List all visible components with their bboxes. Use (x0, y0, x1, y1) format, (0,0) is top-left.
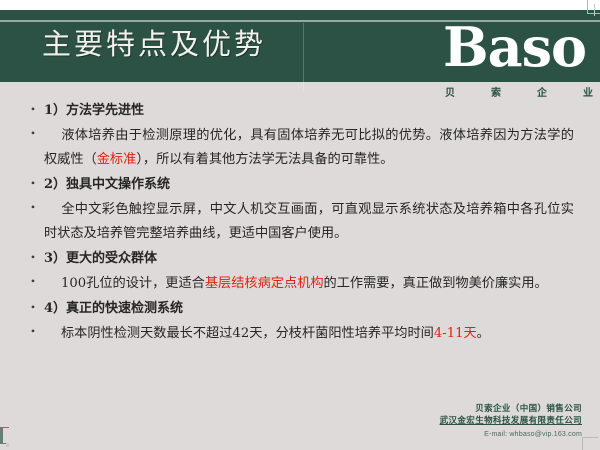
bullet-row: •3）更大的受众群体 (0, 248, 600, 270)
bullet-text: 1）方法学先进性 (44, 100, 584, 122)
bullet-text: 全中文彩色触控显示屏，中文人机交互画面，可直观显示系统状态及培养箱中各孔位实时状… (44, 198, 584, 246)
bullet-row: •100孔位的设计，更适合基层结核病定点机构的工作需要，真正做到物美价廉实用。 (0, 272, 600, 296)
logo-sub-char-0: 贝 (445, 84, 455, 99)
text-segment: ），所以有着其他方法学无法具备的可靠性。 (136, 152, 393, 167)
bullet-row: •2）独具中文操作系统 (0, 174, 600, 196)
logo-subtitle: 贝 索 企 业 (445, 84, 593, 99)
bullet-marker-icon: • (0, 298, 44, 317)
left-corner-mark (0, 427, 9, 444)
top-right-mark-vertical (587, 0, 588, 14)
bullet-text: 液体培养由于检测原理的优化，具有固体培养无可比拟的优势。液体培养因为方法学的权威… (44, 124, 584, 172)
highlighted-phrase: 金标准 (97, 152, 137, 167)
title-divider-rule (303, 23, 304, 91)
bullet-row: •全中文彩色触控显示屏，中文人机交互画面，可直观显示系统状态及培养箱中各孔位实时… (0, 198, 600, 246)
bullet-text: 100孔位的设计，更适合基层结核病定点机构的工作需要，真正做到物美价廉实用。 (44, 272, 584, 296)
bullet-row: •液体培养由于检测原理的优化，具有固体培养无可比拟的优势。液体培养因为方法学的权… (0, 124, 600, 172)
bullet-text: 3）更大的受众群体 (44, 248, 584, 270)
bottom-right-mark-vertical (582, 437, 583, 450)
highlighted-phrase: 4-11天 (434, 326, 477, 341)
company-logo: Baso 贝 索 企 业 (443, 14, 593, 100)
footer-company-sales: 贝索企业（中国）销售公司 (282, 402, 582, 414)
bullet-marker-icon: • (0, 248, 44, 267)
bullet-marker-icon: • (0, 124, 44, 143)
slide-footer: 贝索企业（中国）销售公司 武汉金宏生物科技发展有限责任公司 E-mail: wh… (282, 402, 582, 441)
slide-canvas: 主要特点及优势 Baso 贝 索 企 业 •1）方法学先进性•液体培养由于检测原… (0, 0, 600, 450)
text-segment: 100孔位的设计，更适合 (61, 276, 205, 291)
bullet-marker-icon: • (0, 198, 44, 217)
logo-sub-char-2: 企 (537, 84, 547, 99)
bullet-marker-icon: • (0, 272, 44, 291)
text-segment: 的工作需要，真正做到物美价廉实用。 (324, 276, 548, 291)
logo-sub-char-3: 业 (583, 84, 593, 99)
top-right-mark-vertical-outer (594, 4, 595, 16)
footer-email[interactable]: E-mail: whbaso@vip.163.com (282, 429, 582, 441)
text-segment: 全中文彩色触控显示屏，中文人机交互画面，可直观显示系统状态及培养箱中各孔位实时状… (44, 202, 574, 241)
logo-sub-char-1: 索 (491, 84, 501, 99)
bottom-right-mark-horizontal (582, 437, 598, 438)
page-title: 主要特点及优势 (42, 24, 266, 64)
footer-company-legal: 武汉金宏生物科技发展有限责任公司 (282, 414, 582, 427)
bullet-row: •1）方法学先进性 (0, 100, 600, 122)
bullet-marker-icon: • (0, 174, 44, 193)
bullet-row: •标本阴性检测天数最长不超过42天，分枝杆菌阳性培养平均时间4-11天。 (0, 322, 600, 346)
text-segment: 标本阴性检测天数最长不超过42天，分枝杆菌阳性培养平均时间 (61, 326, 434, 341)
bullet-text: 2）独具中文操作系统 (44, 174, 584, 196)
bullet-row: •4）真正的快速检测系统 (0, 298, 600, 320)
left-corner-tick (6, 443, 9, 447)
bullet-marker-icon: • (0, 322, 44, 341)
logo-wordmark: Baso (443, 14, 593, 80)
slide-top-margin (0, 0, 600, 10)
bullet-list: •1）方法学先进性•液体培养由于检测原理的优化，具有固体培养无可比拟的优势。液体… (0, 100, 600, 348)
text-segment: 。 (477, 326, 490, 341)
bullet-text: 4）真正的快速检测系统 (44, 298, 584, 320)
bullet-text: 标本阴性检测天数最长不超过42天，分枝杆菌阳性培养平均时间4-11天。 (44, 322, 584, 346)
highlighted-phrase: 基层结核病定点机构 (205, 276, 324, 291)
bullet-marker-icon: • (0, 100, 44, 119)
